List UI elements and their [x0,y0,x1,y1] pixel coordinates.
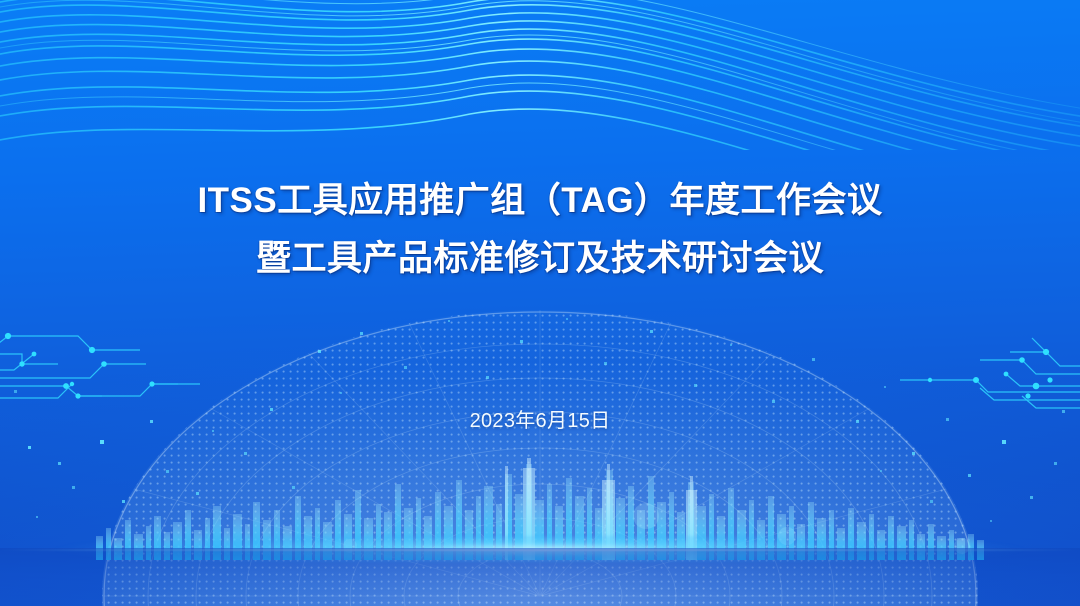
wave-ribbons-decoration [0,0,1080,150]
slide-title: ITSS工具应用推广组（TAG）年度工作会议 暨工具产品标准修订及技术研讨会议 [0,172,1080,288]
city-skyline-decoration [90,450,990,560]
title-line-2: 暨工具产品标准修订及技术研讨会议 [0,230,1080,288]
title-slide: ITSS工具应用推广组（TAG）年度工作会议 暨工具产品标准修订及技术研讨会议 … [0,0,1080,606]
slide-date: 2023年6月15日 [0,404,1080,433]
ground-reflection [0,548,1080,606]
title-line-1: ITSS工具应用推广组（TAG）年度工作会议 [0,172,1080,230]
